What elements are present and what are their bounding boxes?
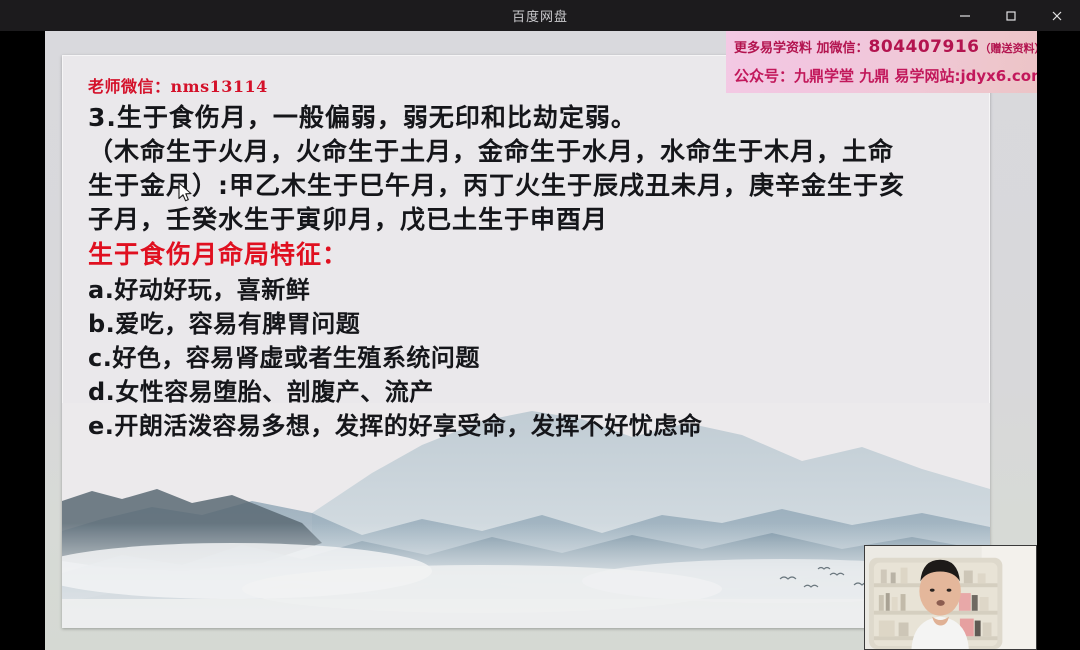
watermark-line1-prefix: 更多易学资料 加微信：	[734, 41, 869, 56]
baidu-netdisk-video-player: 百度网盘	[0, 0, 1080, 650]
slide-item-e: e.开朗活泼容易多想，发挥的好享受命，发挥不好忧虑命	[88, 409, 980, 443]
window-controls	[942, 0, 1080, 31]
slide-item-d: d.女性容易堕胎、剖腹产、流产	[88, 375, 980, 409]
watermark-line1-suffix: （赠送资料）	[980, 42, 1038, 55]
slide-line-3: 生于金月）:甲乙木生于巳午月，丙丁火生于辰戌丑未月，庚辛金生于亥	[88, 169, 980, 203]
promo-watermark-banner: 更多易学资料 加微信：804407916（赠送资料） 公众号：九鼎学堂 九鼎 易…	[726, 31, 1037, 93]
slide-line-2: （木命生于火月，火命生于土月，金命生于水月，水命生于木月，土命	[88, 135, 980, 169]
mouse-cursor-icon	[178, 182, 194, 204]
watermark-line-1: 更多易学资料 加微信：804407916（赠送资料）	[734, 34, 1037, 62]
slide-item-c: c.好色，容易肾虚或者生殖系统问题	[88, 341, 980, 375]
webcam-overlay[interactable]	[864, 545, 1037, 650]
presentation-slide: 老师微信：nms13114 3.生于食伤月，一般偏弱，弱无印和比劫定弱。 （木命…	[62, 55, 990, 628]
minimize-icon	[958, 9, 972, 23]
slide-line-1: 3.生于食伤月，一般偏弱，弱无印和比劫定弱。	[88, 101, 980, 135]
close-icon	[1050, 9, 1064, 23]
slide-text-block: 老师微信：nms13114 3.生于食伤月，一般偏弱，弱无印和比劫定弱。 （木命…	[88, 73, 980, 443]
watermark-line2-prefix: 公众号：九鼎学堂 九鼎 易学网站:	[734, 67, 960, 85]
maximize-icon	[1004, 9, 1018, 23]
minimize-button[interactable]	[942, 0, 988, 31]
slide-item-a: a.好动好玩，喜新鲜	[88, 273, 980, 307]
watermark-line-2: 公众号：九鼎学堂 九鼎 易学网站:jdyx6.com	[734, 62, 1037, 90]
watermark-wechat-number: 804407916	[869, 37, 980, 57]
slide-content: 老师微信：nms13114 3.生于食伤月，一般偏弱，弱无印和比劫定弱。 （木命…	[62, 55, 990, 628]
window-title: 百度网盘	[512, 6, 568, 25]
close-button[interactable]	[1034, 0, 1080, 31]
slide-section-heading: 生于食伤月命局特征：	[88, 237, 980, 273]
maximize-button[interactable]	[988, 0, 1034, 31]
slide-item-b: b.爱吃，容易有脾胃问题	[88, 307, 980, 341]
watermark-website: jdyx6.com	[960, 67, 1037, 85]
window-title-bar: 百度网盘	[0, 0, 1080, 31]
slide-line-4: 子月，壬癸水生于寅卯月，戊已土生于申酉月	[88, 203, 980, 237]
webcam-video-frame	[865, 546, 1036, 649]
